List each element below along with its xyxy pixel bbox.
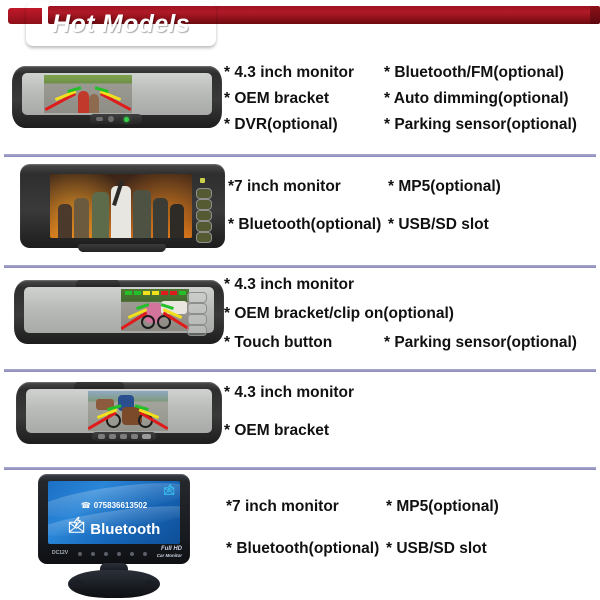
product-features-5: *7 inch monitor * MP5(optional) * Blueto… — [226, 498, 499, 582]
product-row-5: 🖄 ☎ 075836613502 🖄 Bluetooth Full HD Car… — [0, 472, 600, 600]
mirror-button[interactable] — [108, 116, 114, 122]
feature-text: * Parking sensor(optional) — [384, 334, 577, 352]
product-image-5: 🖄 ☎ 075836613502 🖄 Bluetooth Full HD Car… — [38, 474, 190, 564]
monitor-button[interactable] — [143, 552, 147, 556]
mirror-glass — [22, 73, 212, 115]
product-image-2 — [20, 164, 225, 248]
mirror-glass — [24, 287, 214, 333]
touch-button[interactable] — [187, 303, 207, 314]
scene-figure — [170, 204, 184, 238]
monitor-button[interactable] — [104, 552, 108, 556]
feature-text: * DVR(optional) — [224, 116, 384, 134]
mirror-button[interactable] — [96, 117, 103, 121]
bluetooth-icon: 🖄 — [68, 517, 86, 542]
mirror-button[interactable] — [109, 434, 116, 439]
feature-text: * Touch button — [224, 334, 384, 352]
monitor-button[interactable] — [78, 552, 82, 556]
phone-icon: ☎ — [81, 501, 91, 510]
mirror-mount-bracket — [76, 280, 120, 287]
feature-text: *7 inch monitor — [226, 498, 386, 516]
scene-figure-main — [111, 186, 131, 238]
feature-text: * 4.3 inch monitor — [224, 64, 384, 82]
badge-line-2: Car Monitor — [157, 553, 182, 558]
feature-text: * 4.3 inch monitor — [224, 384, 384, 402]
monitor-button[interactable] — [196, 188, 212, 199]
feature-text: * MP5(optional) — [386, 498, 499, 516]
monitor-button[interactable] — [196, 232, 212, 243]
touch-button[interactable] — [187, 314, 207, 325]
product-features-4: * 4.3 inch monitor * OEM bracket — [224, 384, 384, 460]
stand-screw — [74, 580, 83, 587]
feature-text: * OEM bracket — [224, 422, 384, 440]
product-features-3: * 4.3 inch monitor * OEM bracket/clip on… — [224, 276, 577, 363]
row-separator — [4, 265, 596, 268]
row-separator — [4, 369, 596, 372]
product-row-4: * 4.3 inch monitor * OEM bracket — [0, 374, 600, 470]
mirror-mount-bracket — [74, 382, 124, 389]
feature-text: * MP5(optional) — [388, 178, 501, 196]
feature-text: * OEM bracket/clip on(optional) — [224, 305, 484, 323]
feature-text: * Bluetooth(optional) — [228, 216, 388, 234]
page-title: Hot Models — [26, 2, 216, 46]
scene-figure — [74, 198, 89, 238]
row-separator — [4, 467, 596, 470]
feature-text: * 4.3 inch monitor — [224, 276, 384, 294]
monitor-button[interactable] — [196, 221, 212, 232]
bluetooth-brand-text: Bluetooth — [90, 521, 160, 538]
stand-screw — [145, 580, 154, 587]
caller-number: 075836613502 — [94, 501, 147, 510]
feature-text: * Bluetooth(optional) — [226, 540, 386, 558]
full-hd-badge: Full HD Car Monitor — [157, 546, 182, 559]
bluetooth-status-icon: 🖄 — [163, 484, 175, 501]
power-label: DC12V — [52, 550, 68, 556]
monitor-button[interactable] — [196, 199, 212, 210]
mirror-button[interactable] — [98, 434, 105, 439]
feature-text: * Parking sensor(optional) — [384, 116, 577, 134]
product-image-4 — [16, 382, 222, 444]
feature-text: * Bluetooth/FM(optional) — [384, 64, 564, 82]
monitor-button[interactable] — [117, 552, 121, 556]
banner-ribbon-end — [590, 6, 600, 24]
monitor-button[interactable] — [196, 210, 212, 221]
row-separator — [4, 154, 596, 157]
power-led-indicator — [124, 117, 129, 122]
feature-text: * USB/SD slot — [386, 540, 487, 558]
scene-figure — [58, 204, 72, 238]
camera-screen — [44, 75, 132, 113]
product-row-3: * 4.3 inch monitor * OEM bracket/clip on… — [0, 272, 600, 372]
product-image-1 — [12, 66, 222, 128]
product-image-3 — [14, 280, 224, 344]
monitor-screen: 🖄 ☎ 075836613502 🖄 Bluetooth — [48, 481, 180, 544]
product-features-1: * 4.3 inch monitor * Bluetooth/FM(option… — [224, 64, 577, 142]
mirror-mount-bracket — [78, 244, 166, 252]
scene-figure — [153, 198, 168, 238]
feature-text: * Auto dimming(optional) — [384, 90, 569, 108]
mirror-button[interactable] — [131, 434, 138, 439]
monitor-button[interactable] — [130, 552, 134, 556]
touch-button[interactable] — [187, 292, 207, 303]
feature-text: *7 inch monitor — [228, 178, 388, 196]
camera-screen — [88, 391, 168, 431]
mirror-button[interactable] — [120, 434, 127, 439]
scene-figure — [133, 190, 151, 238]
mirror-button[interactable] — [142, 434, 151, 439]
badge-line-1: Full HD — [161, 546, 182, 552]
monitor-button[interactable] — [91, 552, 95, 556]
status-led-indicator — [200, 178, 205, 183]
video-screen — [50, 174, 192, 238]
mirror-glass — [26, 389, 212, 433]
scene-figure — [78, 91, 89, 113]
product-row-2: *7 inch monitor * MP5(optional) * Blueto… — [0, 160, 600, 265]
parking-distance-ruler — [125, 291, 186, 295]
touch-button[interactable] — [187, 325, 207, 336]
feature-text: * USB/SD slot — [388, 216, 489, 234]
product-row-1: * 4.3 inch monitor * Bluetooth/FM(option… — [0, 60, 600, 155]
header-banner: Hot Models — [0, 0, 600, 56]
scene-bicycle-wheel — [141, 315, 155, 329]
product-showcase-page: Hot Models — [0, 0, 600, 600]
feature-text: * OEM bracket — [224, 90, 384, 108]
camera-screen — [121, 289, 189, 331]
scene-figure — [89, 94, 99, 113]
monitor-button-row[interactable] — [78, 552, 147, 556]
scene-figure — [92, 192, 109, 238]
product-features-2: *7 inch monitor * MP5(optional) * Blueto… — [228, 178, 501, 254]
